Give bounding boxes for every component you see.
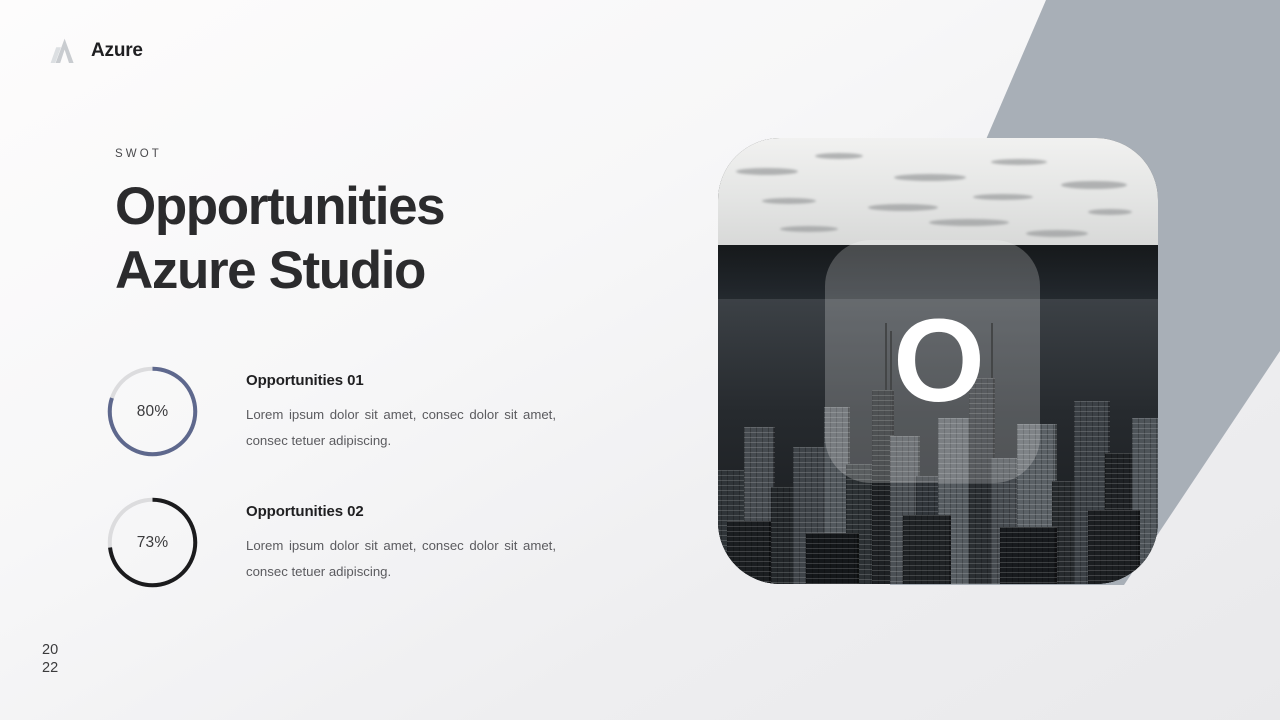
headline-line-1: Opportunities <box>115 177 444 236</box>
stat-title-2: Opportunities 02 <box>246 503 585 520</box>
headline-block: SWOT Opportunities Azure Studio <box>115 148 585 302</box>
stat-description-1: Lorem ipsum dolor sit amet, consec dolor… <box>246 402 556 454</box>
year-marker: 20 22 <box>42 641 58 678</box>
stat-text-2: Opportunities 02 Lorem ipsum dolor sit a… <box>200 492 585 585</box>
photo-card: O <box>718 138 1158 584</box>
stats-list: 80% Opportunities 01 Lorem ipsum dolor s… <box>105 361 585 623</box>
stat-description-2: Lorem ipsum dolor sit amet, consec dolor… <box>246 533 556 585</box>
mountain-chevron-logo-icon <box>50 38 80 64</box>
page-title: Opportunities Azure Studio <box>115 175 585 302</box>
brand-name: Azure <box>91 40 143 62</box>
year-line-1: 20 <box>42 641 58 660</box>
progress-ring-2-value: 73% <box>105 495 200 590</box>
stat-text-1: Opportunities 01 Lorem ipsum dolor sit a… <box>200 361 585 454</box>
overlay-letter: O <box>718 138 1158 584</box>
progress-ring-1-value: 80% <box>105 364 200 459</box>
headline-line-2: Azure Studio <box>115 241 425 300</box>
eyebrow-label: SWOT <box>115 148 585 160</box>
progress-ring-2: 73% <box>105 495 200 590</box>
list-item: 73% Opportunities 02 Lorem ipsum dolor s… <box>105 492 585 623</box>
list-item: 80% Opportunities 01 Lorem ipsum dolor s… <box>105 361 585 492</box>
year-line-2: 22 <box>42 659 58 678</box>
stat-title-1: Opportunities 01 <box>246 372 585 389</box>
brand-logo[interactable]: Azure <box>50 38 143 64</box>
progress-ring-1: 80% <box>105 364 200 459</box>
slide-canvas: Azure SWOT Opportunities Azure Studio 80… <box>0 0 1280 720</box>
